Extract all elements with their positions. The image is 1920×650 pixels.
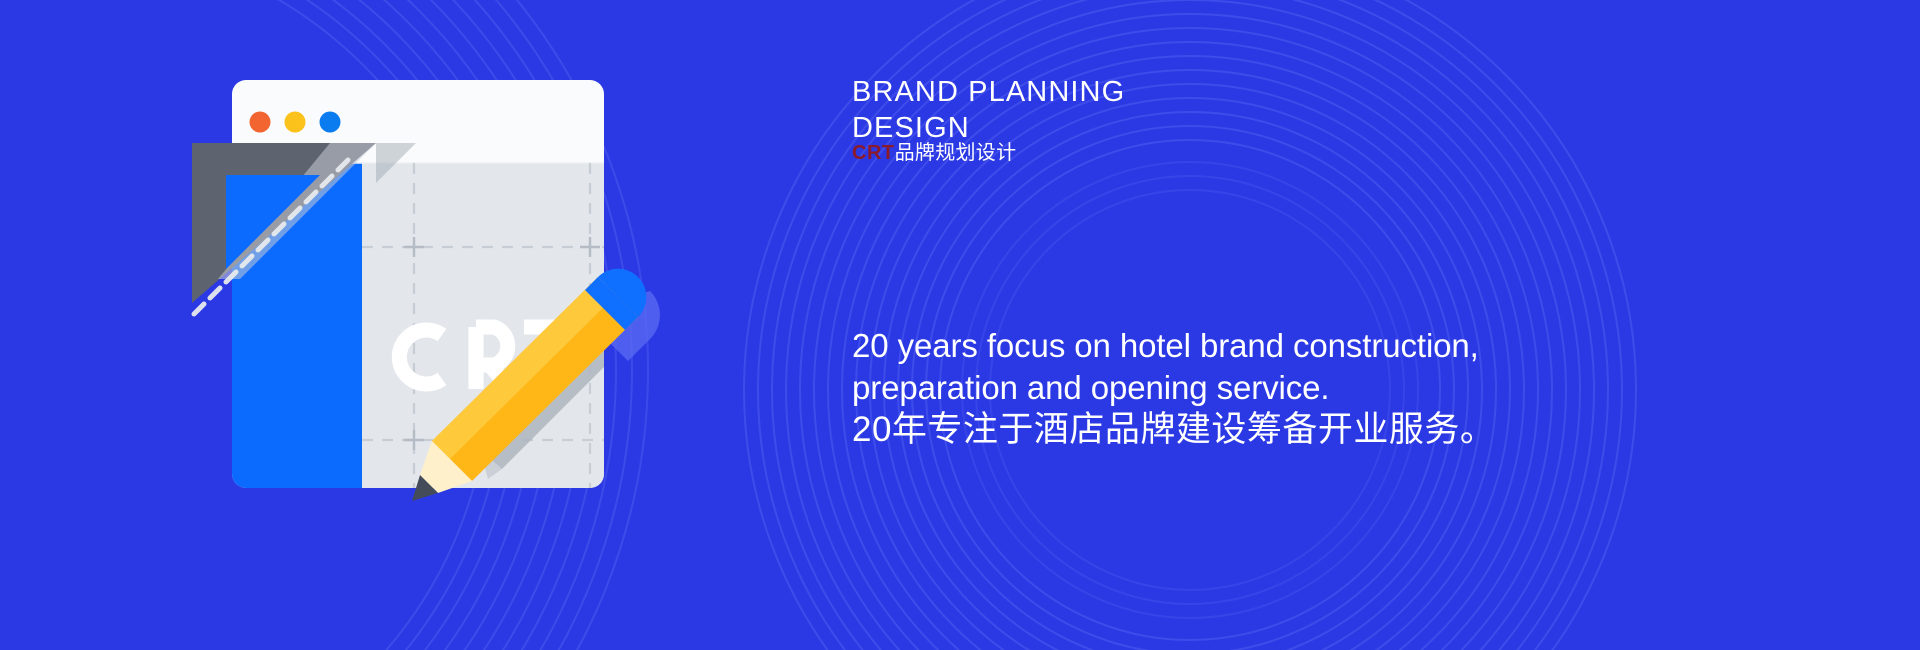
subheading: CRT品牌规划设计 bbox=[852, 140, 1016, 166]
page-title: BRAND PLANNING DESIGN bbox=[852, 75, 1125, 146]
close-dot bbox=[250, 112, 271, 133]
tagline-chinese: 20年专注于酒店品牌建设筹备开业服务。 bbox=[852, 408, 1495, 452]
minimize-dot bbox=[285, 112, 306, 133]
brand-banner: BRAND PLANNING DESIGN CRT品牌规划设计 20 years… bbox=[0, 0, 1920, 650]
browser-window-card bbox=[232, 80, 604, 488]
window-dots bbox=[250, 112, 341, 133]
subheading-chinese: 品牌规划设计 bbox=[895, 142, 1017, 164]
brand-name: CRT bbox=[852, 142, 895, 164]
design-illustration bbox=[180, 55, 740, 565]
maximize-dot bbox=[320, 112, 341, 133]
tagline-english: 20 years focus on hotel brand constructi… bbox=[852, 325, 1612, 409]
text-column: BRAND PLANNING DESIGN CRT品牌规划设计 20 years… bbox=[852, 0, 1832, 650]
